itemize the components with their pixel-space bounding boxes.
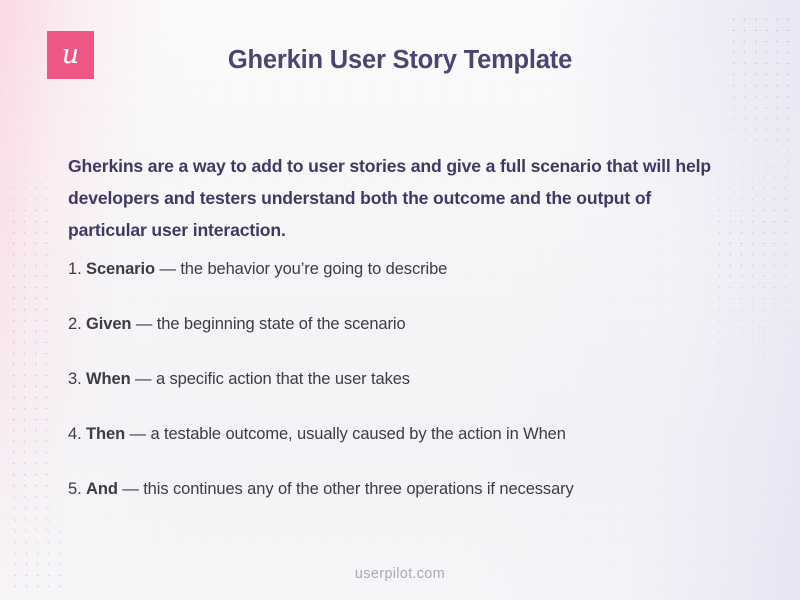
list-item-number: 2. bbox=[68, 315, 82, 333]
list-item-dash: — bbox=[136, 315, 152, 333]
list-item-keyword: Given bbox=[86, 315, 131, 333]
list-item-dash: — bbox=[122, 480, 138, 498]
list-item-number: 3. bbox=[68, 370, 82, 388]
list-item-number: 4. bbox=[68, 425, 82, 443]
list-item-text: this continues any of the other three op… bbox=[143, 480, 574, 498]
list-item-number: 5. bbox=[68, 480, 82, 498]
list-item-dash: — bbox=[130, 425, 146, 443]
list-item: 2. Given — the beginning state of the sc… bbox=[68, 313, 748, 368]
list-item-keyword: Scenario bbox=[86, 260, 155, 278]
list-item-keyword: Then bbox=[86, 425, 125, 443]
list-item-keyword: And bbox=[86, 480, 118, 498]
list-item-text: the behavior you’re going to describe bbox=[180, 260, 447, 278]
footer-website: userpilot.com bbox=[0, 566, 800, 582]
list-item-keyword: When bbox=[86, 370, 131, 388]
list-item: 4. Then — a testable outcome, usually ca… bbox=[68, 423, 748, 478]
list-item-dash: — bbox=[159, 260, 175, 278]
list-item-dash: — bbox=[135, 370, 151, 388]
list-item: 1. Scenario — the behavior you’re going … bbox=[68, 258, 748, 313]
list-item-text: a testable outcome, usually caused by th… bbox=[150, 425, 565, 443]
list-item-text: a specific action that the user takes bbox=[156, 370, 410, 388]
intro-paragraph: Gherkins are a way to add to user storie… bbox=[68, 150, 720, 246]
infographic-card: u Gherkin User Story Template Gherkins a… bbox=[0, 0, 800, 600]
gherkin-steps-list: 1. Scenario — the behavior you’re going … bbox=[68, 258, 748, 533]
list-item: 5. And — this continues any of the other… bbox=[68, 478, 748, 533]
list-item: 3. When — a specific action that the use… bbox=[68, 368, 748, 423]
page-title: Gherkin User Story Template bbox=[0, 46, 800, 75]
list-item-text: the beginning state of the scenario bbox=[157, 315, 406, 333]
list-item-number: 1. bbox=[68, 260, 82, 278]
